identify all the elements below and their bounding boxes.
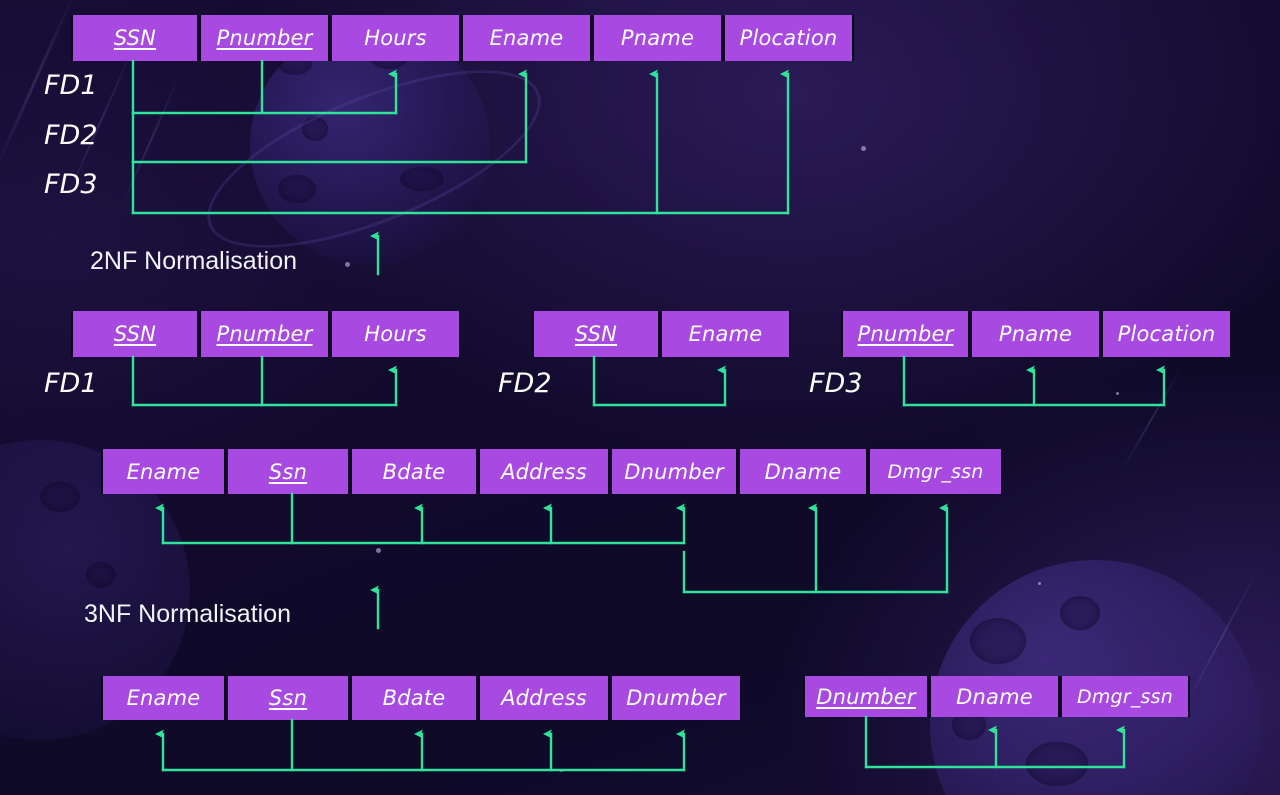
column-header-dnumber[interactable]: Dnumber [803,676,929,717]
column-header-dname[interactable]: Dname [929,676,1060,717]
column-header-address[interactable]: Address [478,449,610,494]
step-label-2nf: 2NF Normalisation [90,247,297,276]
fd2-connector-row2 [594,357,725,405]
table-project-2nf: Pnumber Pname Plocation [841,311,1232,357]
column-header-pnumber[interactable]: Pnumber [199,15,330,61]
star [560,769,563,772]
department-3nf-connector [866,717,1124,767]
column-header-dmgr-ssn[interactable]: Dmgr_ssn [868,449,1003,494]
star [861,146,866,151]
table-employee-3nf: Ename Ssn Bdate Address Dnumber [101,676,742,720]
column-header-pnumber[interactable]: Pnumber [199,311,330,357]
fd1-label-row2: FD1 [44,368,98,399]
employee-3nf-connector [163,720,684,770]
column-header-dnumber[interactable]: Dnumber [610,449,738,494]
column-header-ename[interactable]: Ename [101,676,226,720]
column-header-pname[interactable]: Pname [970,311,1101,357]
column-header-dnumber[interactable]: Dnumber [610,676,742,720]
column-header-hours[interactable]: Hours [330,311,461,357]
column-header-ssn[interactable]: Ssn [226,449,350,494]
star [1038,582,1041,585]
column-header-pname[interactable]: Pname [592,15,723,61]
star [1116,392,1119,395]
fd3-connector [133,74,788,213]
column-header-ename[interactable]: Ename [101,449,226,494]
star [376,548,381,553]
emp-dept-transitive-connector [684,508,947,592]
table-unnormalised-relation: SSN Pnumber Hours Ename Pname Plocation [71,15,854,61]
column-header-hours[interactable]: Hours [330,15,461,61]
star-streak [1187,568,1259,701]
star-streak [1120,368,1182,473]
column-header-plocation[interactable]: Plocation [723,15,854,61]
column-header-dname[interactable]: Dname [738,449,868,494]
star [345,262,350,267]
column-header-address[interactable]: Address [478,676,610,720]
column-header-ssn[interactable]: SSN [71,311,199,357]
column-header-bdate[interactable]: Bdate [350,449,478,494]
fd3-label-row2: FD3 [809,368,863,399]
table-works-on: SSN Pnumber Hours [71,311,461,357]
column-header-ssn[interactable]: Ssn [226,676,350,720]
column-header-ssn[interactable]: SSN [532,311,660,357]
fd2-connector [133,74,526,162]
fd3-connector-row2 [904,357,1164,405]
fd2-label-row2: FD2 [498,368,552,399]
fd1-connector-row2 [133,357,396,405]
fd1-label: FD1 [44,70,98,101]
column-header-bdate[interactable]: Bdate [350,676,478,720]
column-header-ssn[interactable]: SSN [71,15,199,61]
emp-dept-primary-connector [163,494,684,543]
fd2-label: FD2 [44,120,98,151]
fd1-connector [133,61,396,113]
column-header-ename[interactable]: Ename [660,311,791,357]
column-header-dmgr-ssn[interactable]: Dmgr_ssn [1060,676,1190,717]
column-header-ename[interactable]: Ename [461,15,592,61]
table-employee-2nf: SSN Ename [532,311,791,357]
fd3-label: FD3 [44,169,98,200]
column-header-plocation[interactable]: Plocation [1101,311,1232,357]
step-label-3nf: 3NF Normalisation [84,600,291,629]
planet-decoration [250,25,490,265]
star-streak [122,76,181,205]
table-department-3nf: Dnumber Dname Dmgr_ssn [803,676,1190,717]
diagram-canvas: SSN Pnumber Hours Ename Pname Plocation … [0,0,1280,795]
column-header-pnumber[interactable]: Pnumber [841,311,970,357]
table-employee-department: Ename Ssn Bdate Address Dnumber Dname Dm… [101,449,1003,494]
